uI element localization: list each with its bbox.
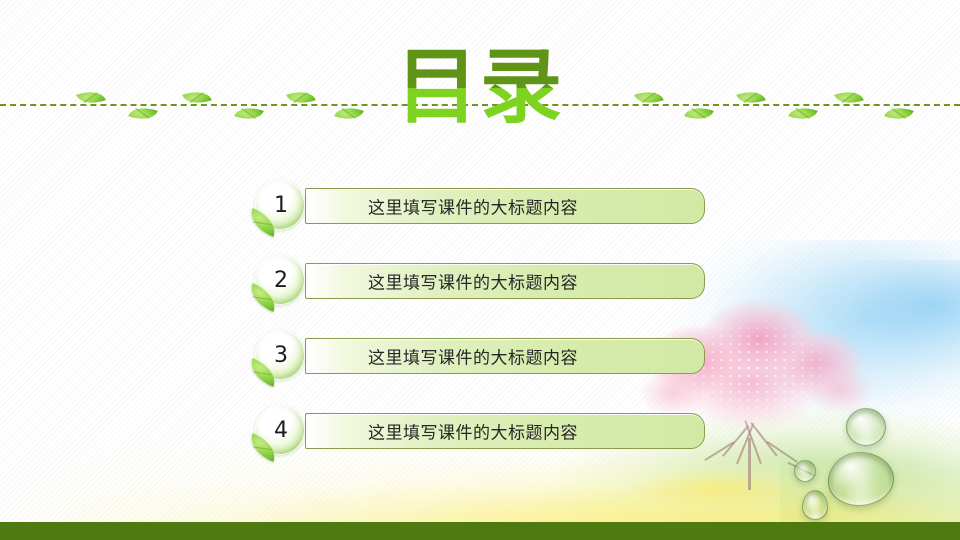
- toc-item-3[interactable]: 这里填写课件的大标题内容 3: [0, 330, 960, 374]
- toc-item-label: 这里填写课件的大标题内容: [368, 344, 578, 369]
- toc-number-badge[interactable]: 1: [255, 180, 305, 230]
- toc-number-badge[interactable]: 4: [255, 405, 305, 455]
- toc-item-number: 3: [255, 330, 305, 380]
- toc-item-label: 这里填写课件的大标题内容: [368, 419, 578, 444]
- toc-item-label: 这里填写课件的大标题内容: [368, 194, 578, 219]
- page-title-wrap: 目录: [0, 46, 960, 130]
- toc-list: 这里填写课件的大标题内容 1 这里填写课件的大标题内容 2 这里填写课件: [0, 180, 960, 480]
- toc-item-4[interactable]: 这里填写课件的大标题内容 4: [0, 405, 960, 449]
- toc-number-badge[interactable]: 2: [255, 255, 305, 305]
- toc-bar[interactable]: 这里填写课件的大标题内容: [305, 263, 705, 299]
- toc-item-label: 这里填写课件的大标题内容: [368, 269, 578, 294]
- toc-item-number: 1: [255, 180, 305, 230]
- page-title: 目录: [396, 46, 564, 130]
- toc-item-1[interactable]: 这里填写课件的大标题内容 1: [0, 180, 960, 224]
- toc-bar[interactable]: 这里填写课件的大标题内容: [305, 338, 705, 374]
- toc-bar[interactable]: 这里填写课件的大标题内容: [305, 413, 705, 449]
- toc-item-number: 4: [255, 405, 305, 455]
- toc-number-badge[interactable]: 3: [255, 330, 305, 380]
- toc-item-number: 2: [255, 255, 305, 305]
- toc-bar[interactable]: 这里填写课件的大标题内容: [305, 188, 705, 224]
- slide-canvas: 目录 这里填写课件的大标题内容 1 这里填写课件的大标题内容 2: [0, 0, 960, 540]
- toc-item-2[interactable]: 这里填写课件的大标题内容 2: [0, 255, 960, 299]
